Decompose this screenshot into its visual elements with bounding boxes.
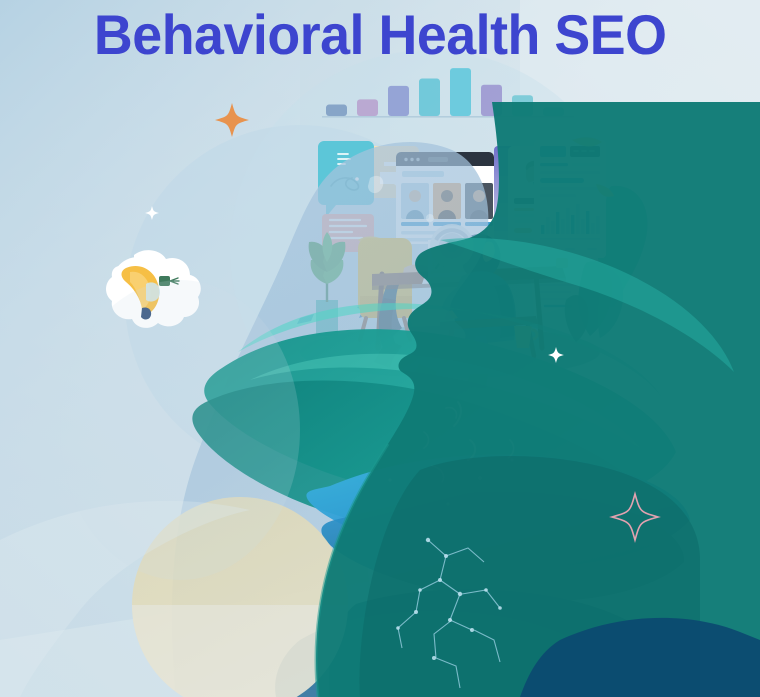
bar-chart-bar <box>450 68 471 116</box>
behavioral-health-seo-illustration <box>0 0 760 697</box>
bar-chart-bar <box>419 79 440 116</box>
bar-chart-bar <box>326 105 347 116</box>
bar-chart-bar <box>357 99 378 116</box>
illustration-canvas: Behavioral Health SEO <box>0 0 760 697</box>
bar-chart-bar <box>388 86 409 116</box>
